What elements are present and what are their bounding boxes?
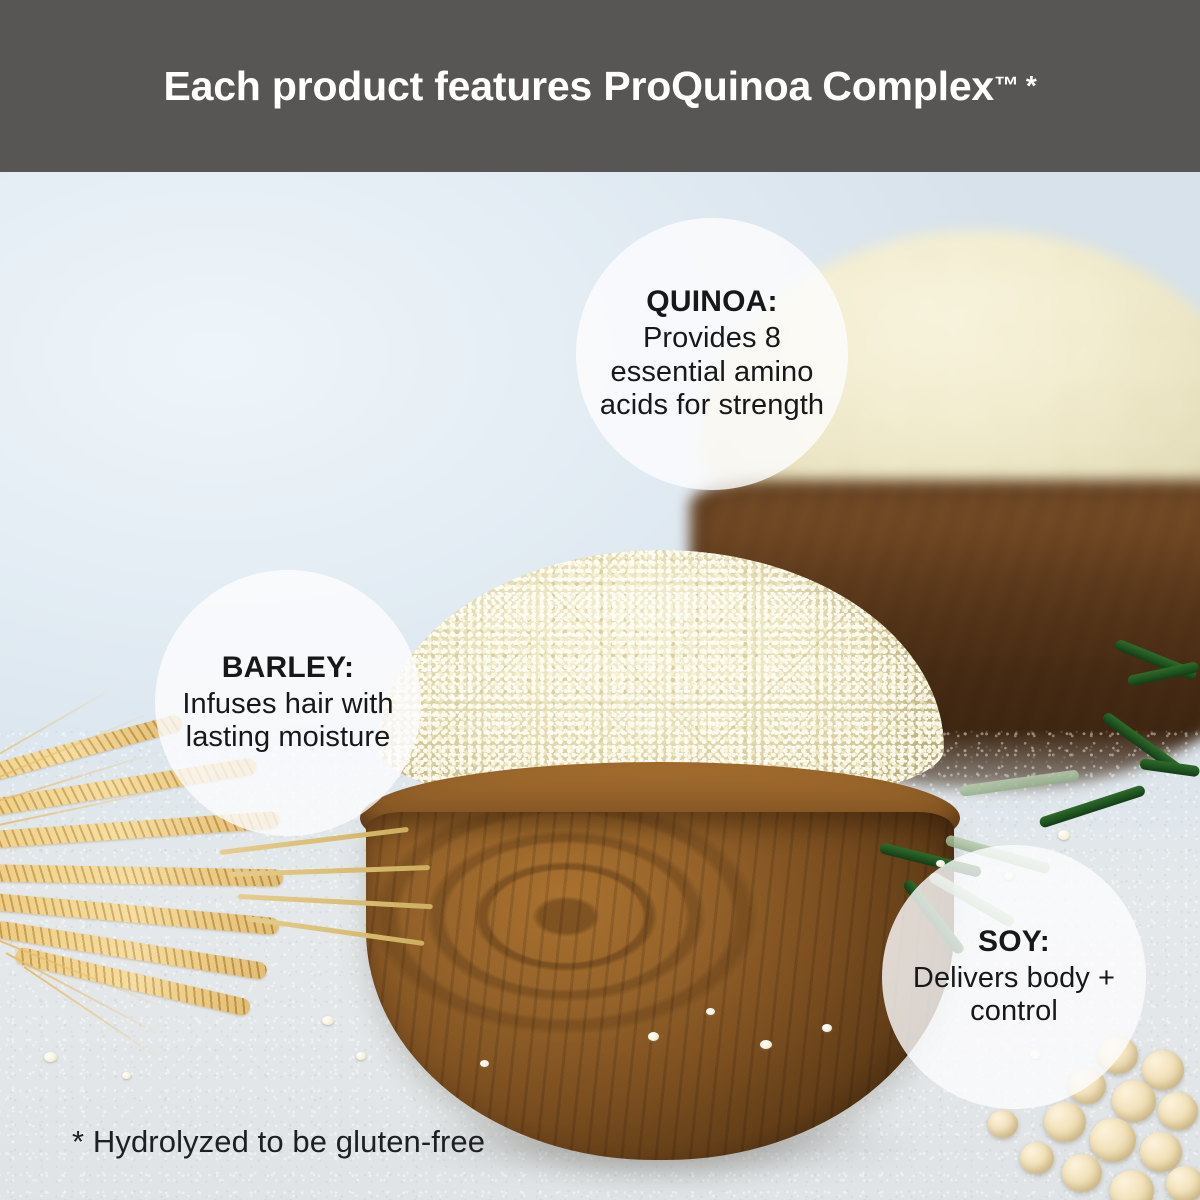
quinoa-grain	[480, 1060, 489, 1067]
callout-quinoa-body: Provides 8 essential amino acids for str…	[586, 322, 838, 423]
quinoa-grain	[122, 1072, 131, 1079]
quinoa-grain	[822, 1024, 832, 1032]
callout-soy-body: Delivers body + control	[894, 962, 1134, 1029]
wheat-straw	[238, 894, 433, 909]
callout-quinoa-title: QUINOA:	[646, 285, 777, 320]
soybean	[1112, 1080, 1156, 1122]
proquinoa-infographic: Each product features ProQuinoa Complex™…	[0, 0, 1200, 1200]
callout-soy: SOY: Delivers body + control	[882, 845, 1146, 1109]
quinoa-grain	[356, 1052, 366, 1060]
quinoa-grain	[322, 1016, 334, 1025]
soybean	[1140, 1132, 1182, 1172]
soybean	[1090, 1118, 1136, 1162]
header-bar: Each product features ProQuinoa Complex™…	[0, 0, 1200, 172]
quinoa-grain	[1058, 830, 1070, 840]
soybean	[988, 1110, 1018, 1138]
front-bowl-wood-body	[366, 812, 954, 1160]
callout-barley: BARLEY: Infuses hair with lasting moistu…	[155, 570, 421, 836]
callout-soy-title: SOY:	[978, 925, 1050, 960]
quinoa-grain	[648, 1032, 659, 1041]
callout-barley-title: BARLEY:	[222, 651, 355, 686]
callout-barley-body: Infuses hair with lasting moisture	[163, 688, 413, 755]
callout-quinoa: QUINOA: Provides 8 essential amino acids…	[576, 218, 848, 490]
soybean	[1142, 1050, 1184, 1090]
front-bowl	[360, 550, 960, 1160]
quinoa-grain	[706, 1008, 715, 1015]
front-bowl-wood-streaks	[366, 812, 954, 1160]
quinoa-grain	[44, 1052, 57, 1062]
soybean	[1166, 1166, 1200, 1200]
soybean	[1158, 1092, 1198, 1130]
page-title: Each product features ProQuinoa Complex™…	[0, 0, 1200, 172]
header-title-text: Each product features ProQuinoa Complex	[163, 63, 994, 110]
soybean	[1044, 1102, 1086, 1142]
wheat-straw	[230, 865, 430, 877]
soybean	[1020, 1142, 1054, 1174]
footnote: * Hydrolyzed to be gluten-free	[72, 1124, 485, 1160]
soybean	[1062, 1154, 1102, 1192]
quinoa-grain	[760, 1040, 772, 1049]
